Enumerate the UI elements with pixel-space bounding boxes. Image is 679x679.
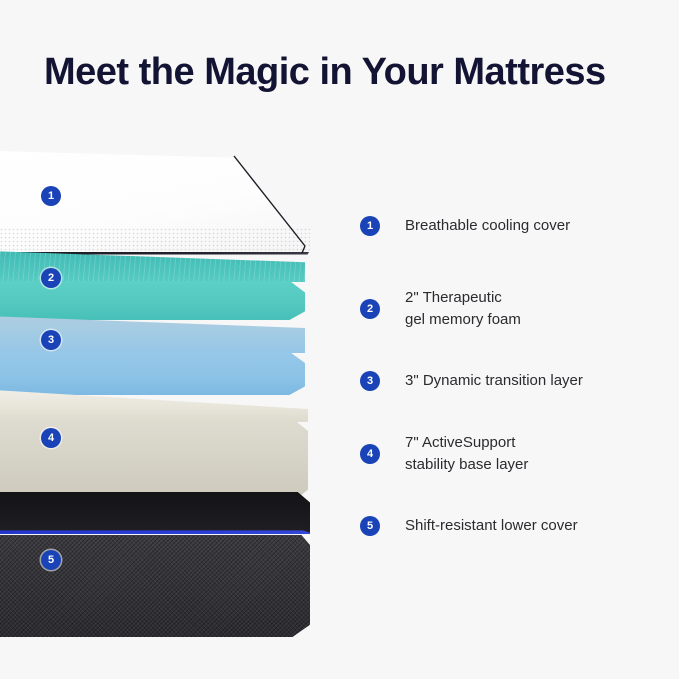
lower-cover-dark-top	[0, 492, 310, 533]
stack-badge-5: 5	[41, 550, 61, 570]
page-title: Meet the Magic in Your Mattress	[44, 48, 664, 96]
stack-badge-2: 2	[41, 268, 61, 288]
legend-badge-5: 5	[360, 516, 380, 536]
legend-item-activesupport-base: 4 7" ActiveSupport stability base layer	[360, 432, 670, 476]
infographic-page: Meet the Magic in Your Mattress	[0, 0, 679, 679]
legend-label-1: Breathable cooling cover	[405, 215, 570, 237]
legend-label-3: 3" Dynamic transition layer	[405, 370, 583, 392]
stack-badge-1: 1	[41, 186, 61, 206]
stack-badge-3: 3	[41, 330, 61, 350]
legend-item-cooling-cover: 1 Breathable cooling cover	[360, 215, 670, 237]
stack-badge-4: 4	[41, 428, 61, 448]
legend-badge-3: 3	[360, 371, 380, 391]
legend-label-4: 7" ActiveSupport stability base layer	[405, 432, 528, 476]
legend-label-5: Shift-resistant lower cover	[405, 515, 578, 537]
activesupport-base-top	[0, 388, 308, 422]
legend-label-2: 2" Therapeutic gel memory foam	[405, 287, 521, 331]
mattress-layer-transition	[0, 315, 305, 395]
legend-item-gel-memory-foam: 2 2" Therapeutic gel memory foam	[360, 287, 670, 331]
legend-item-lower-cover: 5 Shift-resistant lower cover	[360, 515, 670, 537]
cooling-cover-knit-texture	[0, 228, 310, 252]
legend-item-transition-layer: 3 3" Dynamic transition layer	[360, 370, 670, 392]
legend-badge-1: 1	[360, 216, 380, 236]
lower-cover-blue-piping	[0, 530, 310, 534]
legend-badge-2: 2	[360, 299, 380, 319]
legend-badge-4: 4	[360, 444, 380, 464]
